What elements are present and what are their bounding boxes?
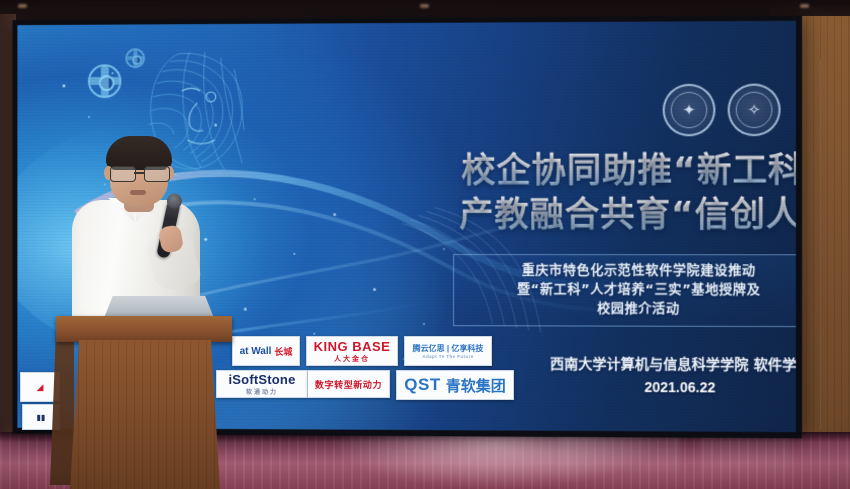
screen-subtitle-box: 重庆市特色化示范性软件学院建设推动 暨“新工科”人才培养“三实”基地授牌及 校园… <box>453 254 796 327</box>
seal-mark: ✦ <box>683 103 696 118</box>
screen-subtitle-line-2: 暨“新工科”人才培养“三实”基地授牌及 <box>462 280 796 300</box>
sponsor-logo-row-1: at Wall 长城 KING BASE 人大金仓 腾云亿思 | 亿享科技 Ad… <box>232 336 492 366</box>
southwest-university-seal-icon: ✦ <box>663 84 716 137</box>
qst-logo-text: QST <box>404 375 440 395</box>
ceiling-light <box>18 4 27 8</box>
screen-title-block: 校企协同助推“新工科” 产教融合共育“信创人” <box>411 148 796 237</box>
kingbase-logo-sub: 人大金仓 <box>334 354 370 364</box>
isoftstone-logo-sub: 软通动力 <box>246 387 278 396</box>
laptop-on-podium <box>104 296 214 318</box>
floor-reflection-streak <box>560 434 680 489</box>
screen-subtitle-line-1: 重庆市特色化示范性软件学院建设推动 <box>462 261 796 281</box>
isoftstone-slogan-board: 数字转型新动力 <box>308 370 390 398</box>
yixiang-tech-logo-text: 腾云亿思 | 亿享科技 <box>413 343 484 354</box>
great-wall-logo: at Wall 长城 <box>232 336 300 366</box>
computer-science-college-seal-icon: ✧ <box>728 84 781 137</box>
screen-title-line-2: 产教融合共育“信创人” <box>411 193 796 238</box>
screen-organizer-block: 西南大学计算机与信息科学学院 软件学院 2021.06.22 <box>535 353 796 399</box>
podium-body <box>70 340 220 489</box>
screen-emblems: ✦ ✧ <box>663 84 781 137</box>
event-date: 2021.06.22 <box>535 376 796 399</box>
screen-subtitle-line-3: 校园推介活动 <box>462 299 796 319</box>
great-wall-logo-text: at Wall <box>240 346 272 357</box>
isoftstone-slogan-text: 数字转型新动力 <box>315 378 382 391</box>
organizer-name: 西南大学计算机与信息科学学院 软件学院 <box>535 353 796 376</box>
qst-logo: QST 青软集团 <box>396 370 514 400</box>
glasses-icon <box>108 166 170 180</box>
kingbase-logo: KING BASE 人大金仓 <box>306 336 398 366</box>
sponsor-logo-row-2: iSoftStone 软通动力 数字转型新动力 QST 青软集团 <box>216 370 514 400</box>
ceiling-light <box>800 4 809 8</box>
isoftstone-logo-text: iSoftStone <box>229 372 296 387</box>
floor-reflection-streak <box>700 434 790 489</box>
qst-logo-sub: 青软集团 <box>446 375 506 396</box>
wall-seam <box>820 60 821 430</box>
seal-mark: ✧ <box>748 102 761 117</box>
conference-stage-photo: ✦ ✧ 校企协同助推“新工科” 产教融合共育“信创人” 重庆市特色化示范性软件学… <box>0 0 850 489</box>
yixiang-tech-logo: 腾云亿思 | 亿享科技 Adapt To The Future <box>404 336 492 366</box>
yixiang-tech-logo-sub: Adapt To The Future <box>422 354 473 359</box>
speaker-hair <box>106 136 172 170</box>
screen-title-line-1: 校企协同助推“新工科” <box>411 148 796 193</box>
great-wall-logo-sub: 长城 <box>274 345 292 358</box>
ceiling-light <box>420 4 429 8</box>
kingbase-logo-text: KING BASE <box>314 339 391 354</box>
isoftstone-logo: iSoftStone 软通动力 <box>216 370 308 398</box>
podium-top <box>56 316 232 342</box>
speaker-mouth <box>130 190 146 195</box>
gear-icon <box>88 64 121 98</box>
